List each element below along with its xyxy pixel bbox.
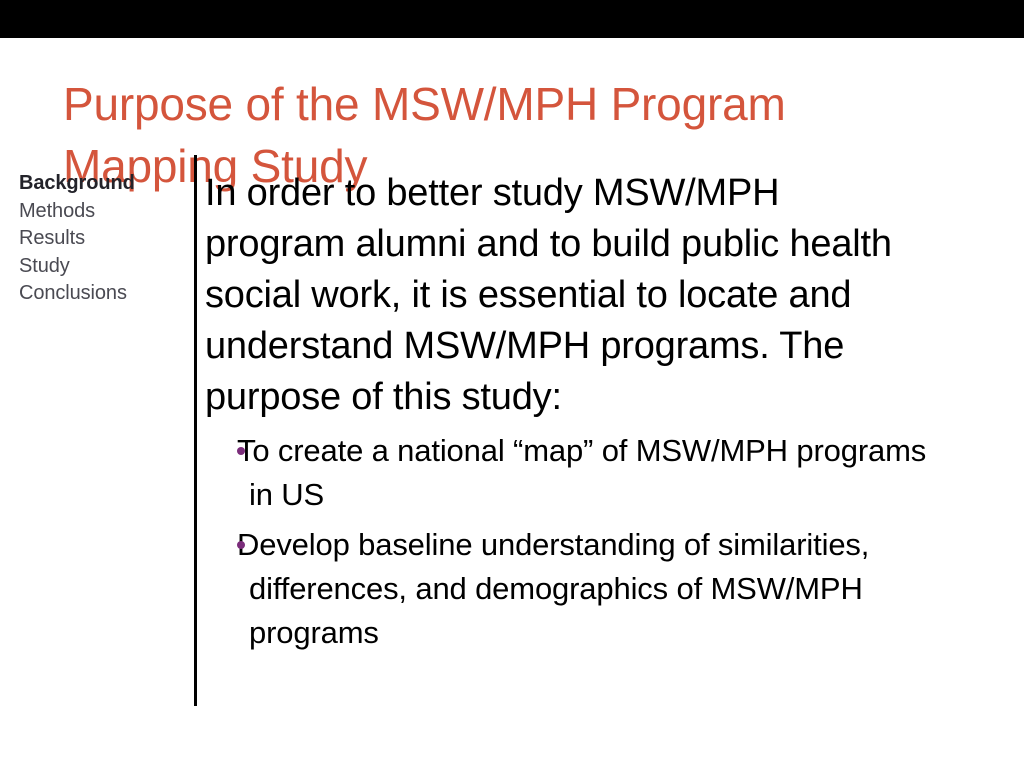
content-body: In order to better study MSW/MPH program…	[205, 168, 975, 655]
sidebar-item-results[interactable]: Results	[19, 225, 187, 253]
slide-frame: Purpose of the MSW/MPH Program Mapping S…	[0, 0, 1024, 768]
section-navigation: Background Methods Results Study Conclus…	[19, 170, 187, 308]
sidebar-item-conclusions[interactable]: Conclusions	[19, 280, 187, 308]
bullet-list: To create a national “map” of MSW/MPH pr…	[205, 429, 955, 655]
bullet-dot-icon	[237, 447, 245, 455]
bullet-dot-icon	[237, 541, 245, 549]
content-divider	[194, 155, 197, 706]
lead-paragraph: In order to better study MSW/MPH program…	[205, 168, 905, 423]
letterbox-top-bar	[0, 0, 1024, 38]
sidebar-item-methods[interactable]: Methods	[19, 198, 187, 226]
list-item-label: Develop baseline understanding of simila…	[237, 527, 869, 650]
list-item: To create a national “map” of MSW/MPH pr…	[205, 429, 955, 517]
slide-canvas: Purpose of the MSW/MPH Program Mapping S…	[0, 38, 1024, 738]
sidebar-item-background[interactable]: Background	[19, 170, 187, 198]
list-item: Develop baseline understanding of simila…	[205, 523, 955, 655]
list-item-label: To create a national “map” of MSW/MPH pr…	[237, 433, 926, 512]
sidebar-item-study[interactable]: Study	[19, 253, 187, 281]
